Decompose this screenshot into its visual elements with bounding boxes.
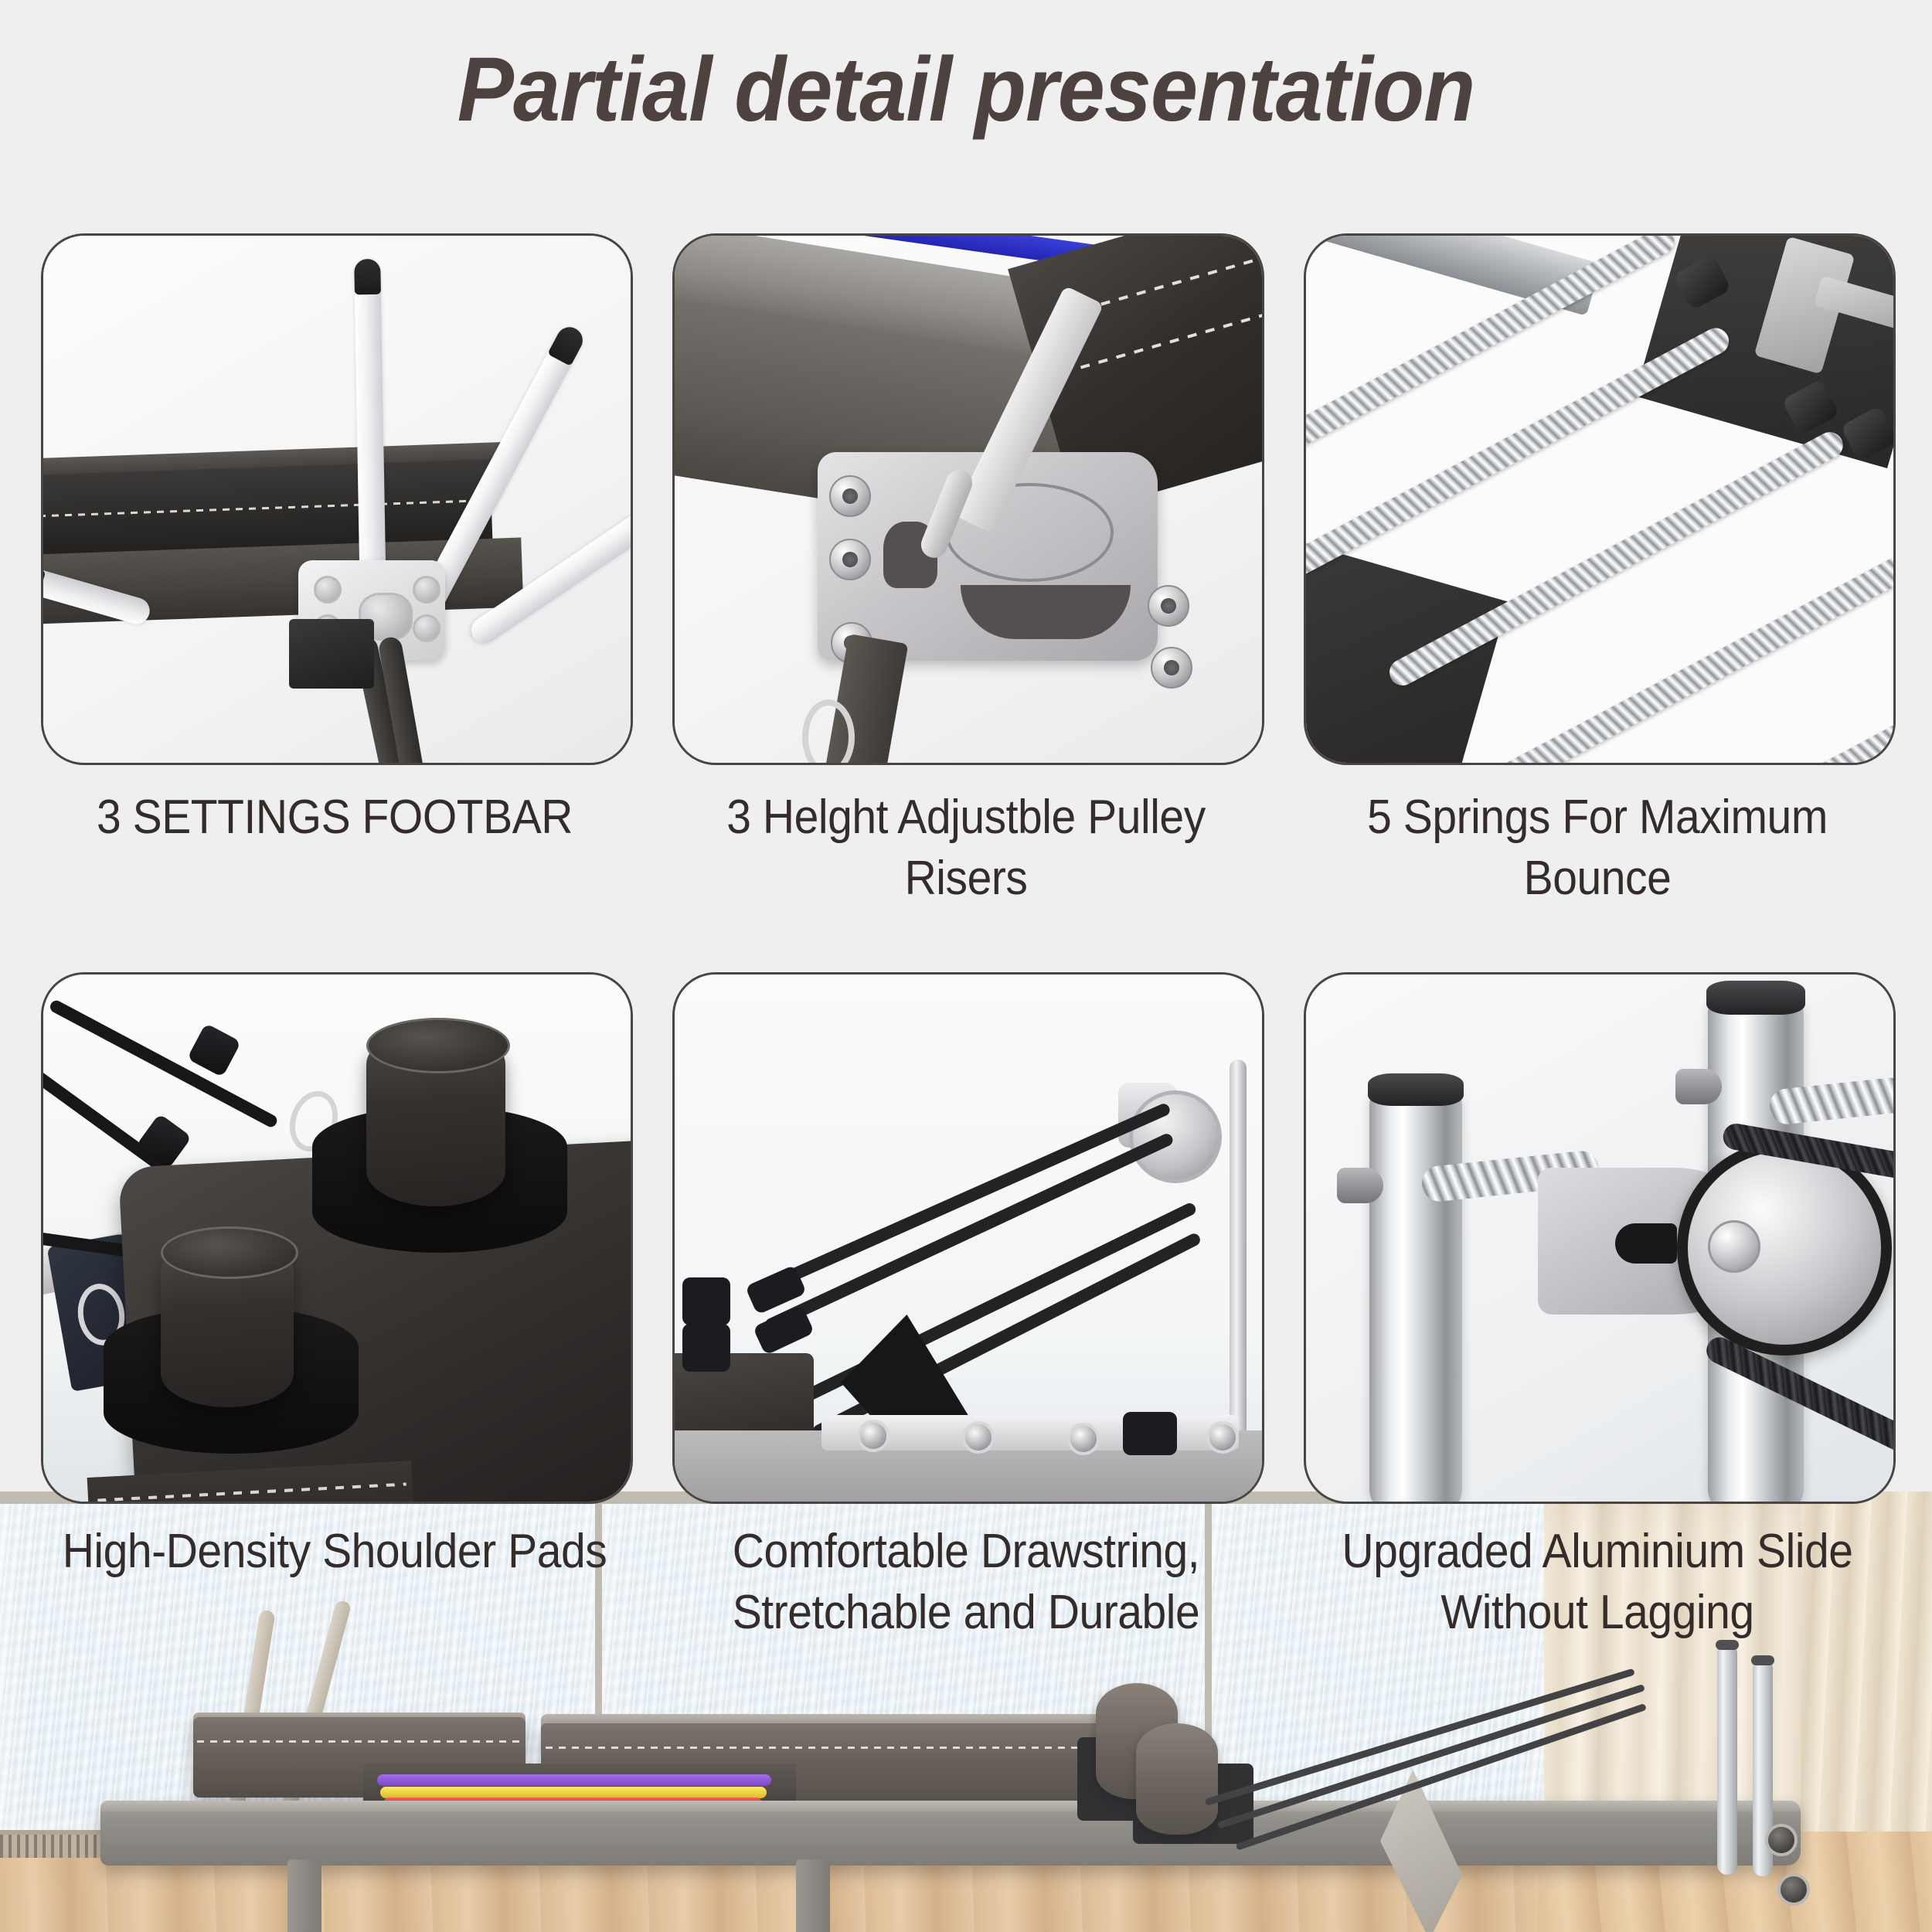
footbar-grip-cap-2 <box>354 259 381 295</box>
drawstring-rope-2 <box>764 1132 1175 1333</box>
footbar-bolt-1 <box>314 576 342 604</box>
springs-illustration <box>1306 236 1893 763</box>
caption-drawstring: Comfortable Drawstring, Stretchable and … <box>696 1521 1236 1644</box>
caption-footbar: 3 SETTINGS FOOTBAR <box>64 787 604 848</box>
drawstring-illustration <box>675 975 1262 1502</box>
shoulder-pad-top-2 <box>161 1226 298 1279</box>
footbar-bolt-3 <box>413 576 440 604</box>
riser-pole-front <box>1369 1081 1462 1504</box>
riser-screw-1 <box>829 475 871 517</box>
footbar-grip-cap-3 <box>547 322 587 366</box>
shoulder-pads-illustration <box>43 975 631 1502</box>
riser-pole-cap-back <box>1706 981 1805 1015</box>
coil-spring-4 <box>1478 539 1896 765</box>
feature-panel-pulley-risers[interactable] <box>672 233 1264 765</box>
footbar-bolt-4 <box>413 614 440 642</box>
track-eyelet-3 <box>1067 1423 1100 1455</box>
presentation-canvas: Partial detail presentation <box>0 0 1932 1932</box>
footbar-position-2 <box>354 259 386 607</box>
feature-panel-footbar[interactable] <box>41 233 633 765</box>
feature-panel-shoulder-pads[interactable] <box>41 972 633 1504</box>
riser-screw-2 <box>829 539 871 580</box>
springs-frame-shadow-left <box>1304 532 1508 765</box>
caption-shoulder-pads: High-Density Shoulder Pads <box>50 1521 619 1582</box>
pole-clamp-knob-back <box>1675 1069 1722 1104</box>
feature-panel-grid: 3 SETTINGS FOOTBAR <box>0 0 1932 1932</box>
feature-panel-aluminium-slide[interactable] <box>1304 972 1896 1504</box>
coil-spring-5 <box>1663 681 1896 765</box>
footbar-leg-clamp <box>289 619 374 689</box>
track-end-stop <box>1123 1412 1177 1455</box>
pulley-keyhole-slot <box>1615 1223 1677 1264</box>
pulley-center-bolt <box>1708 1220 1760 1273</box>
track-eyelet-1 <box>857 1420 889 1452</box>
feature-panel-springs[interactable] <box>1304 233 1896 765</box>
shoulder-pad-top-1 <box>366 1018 510 1073</box>
riser-screw-4 <box>1148 585 1189 627</box>
caption-pulley-risers: 3 Helght Adjustble Pulley Risers <box>696 787 1236 910</box>
caption-springs: 5 Springs For Maximum Bounce <box>1327 787 1867 910</box>
strap-clip-1 <box>187 1023 241 1077</box>
pole-clamp-knob-front <box>1337 1168 1383 1203</box>
track-roller <box>1206 1421 1239 1454</box>
drawstring-anchor-block-1 <box>682 1277 730 1325</box>
drawstring-rope-1 <box>757 1102 1172 1296</box>
track-eyelet-2 <box>962 1421 995 1454</box>
aluminium-slide-illustration <box>1306 975 1893 1502</box>
drawstring-pulley-wheel <box>1129 1090 1222 1183</box>
feature-panel-drawstring[interactable] <box>672 972 1264 1504</box>
riser-pole-cap-front <box>1368 1073 1464 1106</box>
footbar-illustration <box>43 236 631 763</box>
riser-screw-5 <box>1151 647 1192 689</box>
drawstring-riser-pole <box>1230 1060 1247 1461</box>
caption-aluminium-slide: Upgraded Aluminium Slide Without Lagging <box>1327 1521 1867 1644</box>
drawstring-anchor-block-2 <box>682 1324 730 1372</box>
pulley-riser-illustration <box>675 236 1262 763</box>
